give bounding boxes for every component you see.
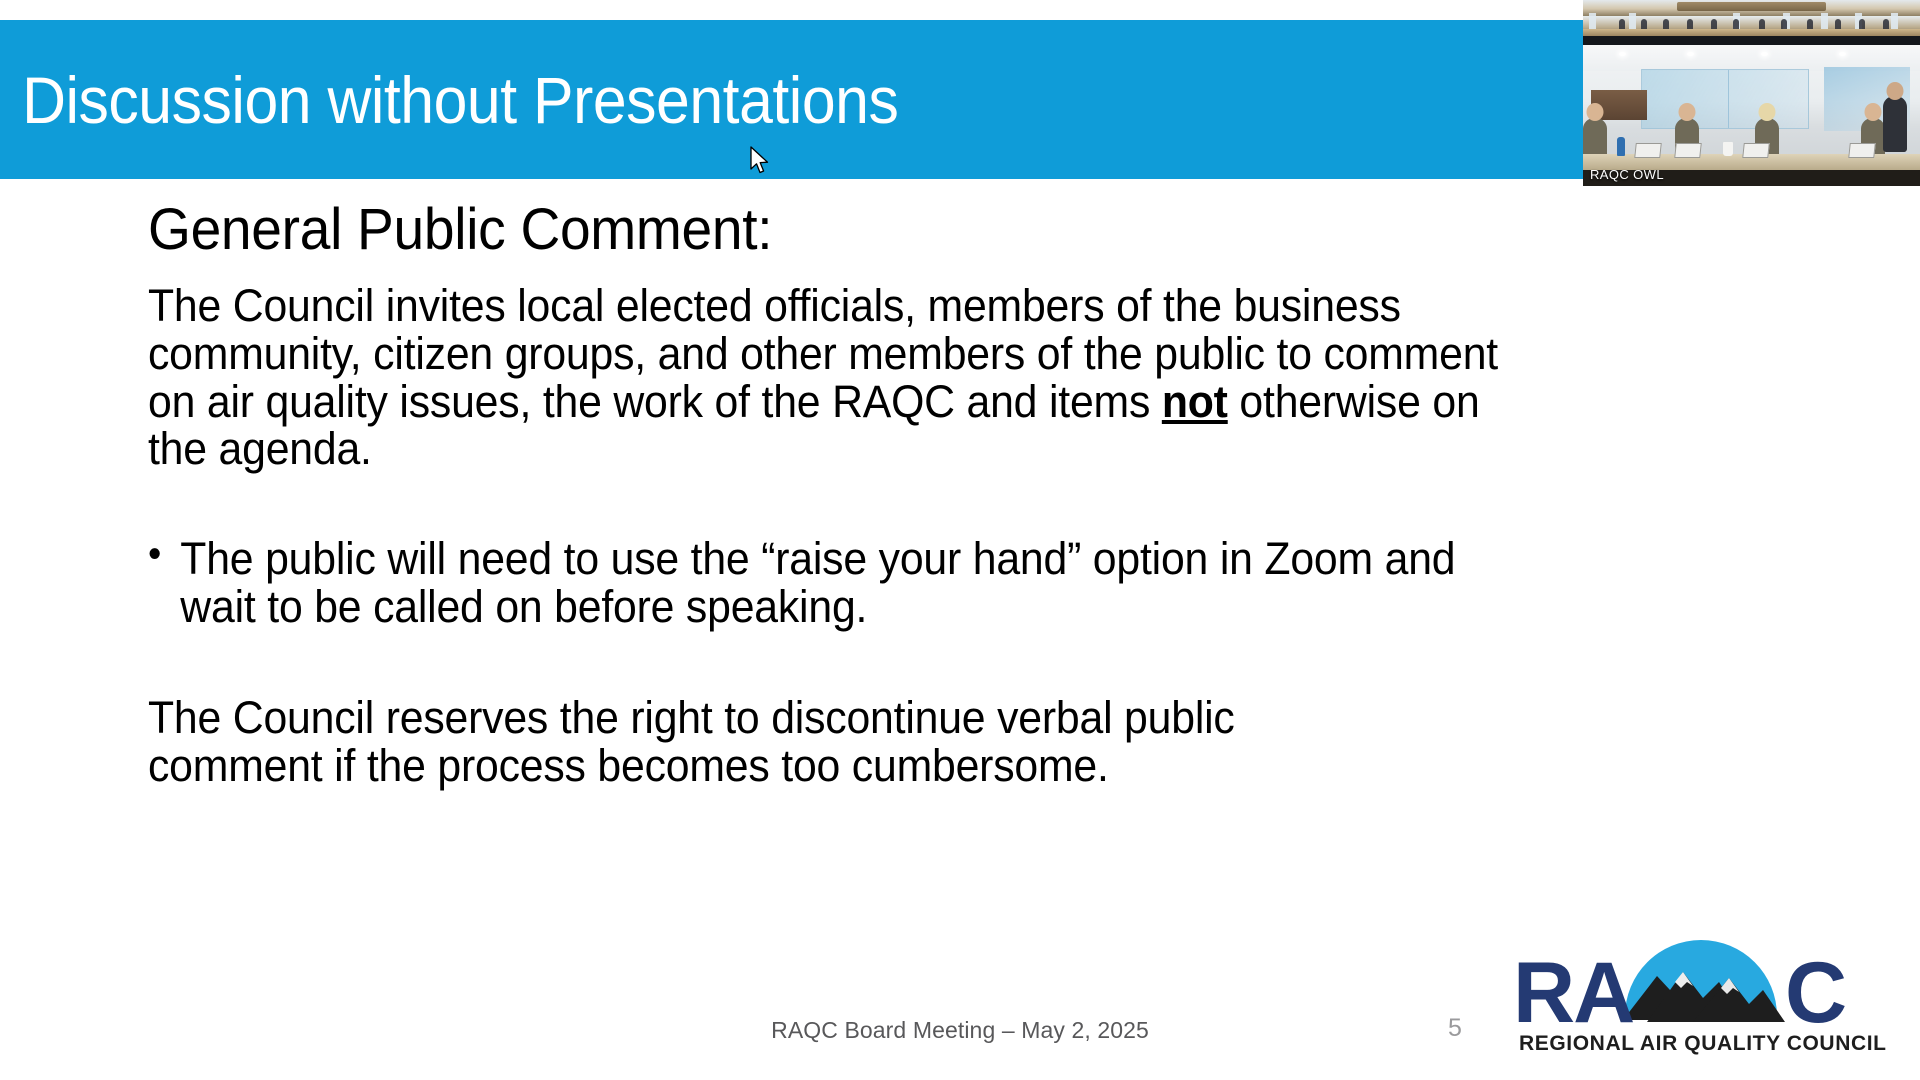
slide-number: 5	[1448, 1014, 1462, 1043]
slide-title: Discussion without Presentations	[0, 67, 898, 133]
slide-title-banner: Discussion without Presentations	[0, 20, 1583, 179]
svg-text:C: C	[1785, 945, 1847, 1041]
list-item: The public will need to use the “raise y…	[148, 535, 1497, 630]
intro-paragraph: The Council invites local elected offici…	[148, 282, 1507, 473]
slide-canvas: Discussion without Presentations	[0, 0, 1920, 1080]
panoramic-room-view	[1583, 0, 1920, 45]
section-heading: General Public Comment:	[148, 200, 1706, 260]
logo-tagline: REGIONAL AIR QUALITY COUNCIL	[1519, 1032, 1887, 1055]
intro-paragraph-emphasis: not	[1162, 376, 1228, 427]
svg-text:RA: RA	[1513, 945, 1633, 1041]
video-feed-panel[interactable]: RAQC OWL	[1583, 0, 1920, 186]
bullet-list: The public will need to use the “raise y…	[148, 535, 1568, 630]
closing-paragraph: The Council reserves the right to discon…	[148, 694, 1402, 789]
video-participant-label: RAQC OWL	[1583, 164, 1671, 186]
slide-body: General Public Comment: The Council invi…	[148, 200, 1788, 790]
closing-paragraph-block: The Council reserves the right to discon…	[148, 694, 1468, 789]
raqc-logo: RA C REGIONAL AIR QUALITY COUNCIL	[1497, 938, 1897, 1056]
